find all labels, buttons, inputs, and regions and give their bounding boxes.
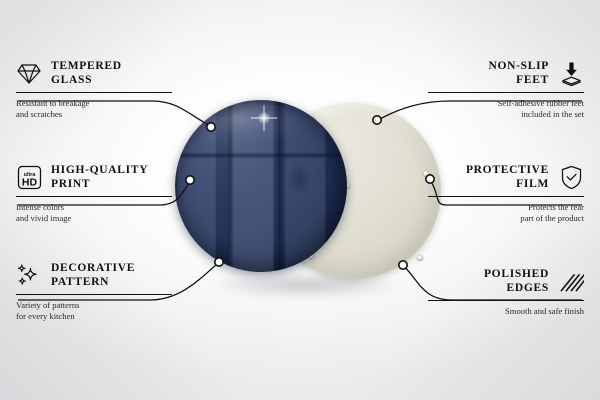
callout-dot-decorative-pattern <box>215 258 223 266</box>
feature-description: Variety of patterns for every kitchen <box>16 300 172 321</box>
desc-line: Self-adhesive rubber feet <box>428 98 584 109</box>
feature-header: TEMPERED GLASS <box>16 60 172 87</box>
title-line: POLISHED <box>484 268 549 280</box>
title-line: EDGES <box>507 282 550 294</box>
desc-line: for every kitchen <box>16 311 172 322</box>
title-line: FILM <box>516 178 549 190</box>
shield-check-icon <box>558 165 584 191</box>
feature-title: NON-SLIP FEET <box>488 60 549 87</box>
feature-polished-edges: POLISHED EDGES Smooth and safe finish <box>428 268 584 317</box>
feature-tempered-glass: TEMPERED GLASS Resistant to breakage and… <box>16 60 172 119</box>
feature-non-slip-feet: NON-SLIP FEET Self-adhesive rubber feet … <box>428 60 584 119</box>
feature-title: PROTECTIVE FILM <box>466 164 549 191</box>
feature-divider <box>16 92 172 93</box>
callout-dot-high-quality-print <box>186 176 194 184</box>
desc-line: Variety of patterns <box>16 300 172 311</box>
title-line: NON-SLIP <box>488 60 549 72</box>
feature-header: NON-SLIP FEET <box>428 60 584 87</box>
ultra-hd-icon: ultra HD <box>16 165 42 191</box>
polished-edges-icon <box>558 269 584 295</box>
desc-line: Resistant to breakage <box>16 98 172 109</box>
desc-line: and vivid image <box>16 213 172 224</box>
svg-text:HD: HD <box>21 177 37 189</box>
feature-high-quality-print: ultra HD HIGH-QUALITY PRINT Intense colo… <box>16 164 172 223</box>
feature-header: DECORATIVE PATTERN <box>16 262 172 289</box>
callout-dot-polished-edges <box>399 261 407 269</box>
feature-divider <box>16 196 172 197</box>
feature-header: POLISHED EDGES <box>428 268 584 295</box>
desc-line: Intense colors <box>16 202 172 213</box>
feature-description: Self-adhesive rubber feet included in th… <box>428 98 584 119</box>
feature-title: POLISHED EDGES <box>484 268 549 295</box>
title-line: PROTECTIVE <box>466 164 549 176</box>
title-line: TEMPERED <box>51 60 122 72</box>
feature-description: Protects the rear part of the product <box>428 202 584 223</box>
feature-description: Resistant to breakage and scratches <box>16 98 172 119</box>
feature-title: DECORATIVE PATTERN <box>51 262 135 289</box>
desc-line: part of the product <box>428 213 584 224</box>
feature-header: ultra HD HIGH-QUALITY PRINT <box>16 164 172 191</box>
desc-line: Protects the rear <box>428 202 584 213</box>
feature-divider <box>428 92 584 93</box>
infographic-canvas: TEMPERED GLASS Resistant to breakage and… <box>0 0 600 400</box>
diamond-icon <box>16 61 42 87</box>
feature-description: Intense colors and vivid image <box>16 202 172 223</box>
feature-title: HIGH-QUALITY PRINT <box>51 164 148 191</box>
feature-divider <box>428 300 584 301</box>
feature-decorative-pattern: DECORATIVE PATTERN Variety of patterns f… <box>16 262 172 321</box>
callout-dot-tempered-glass <box>207 123 215 131</box>
title-line: GLASS <box>51 74 92 86</box>
feature-divider <box>16 294 172 295</box>
desc-line: Smooth and safe finish <box>428 306 584 317</box>
feature-title: TEMPERED GLASS <box>51 60 122 87</box>
desc-line: included in the set <box>428 109 584 120</box>
title-line: HIGH-QUALITY <box>51 164 148 176</box>
feature-divider <box>428 196 584 197</box>
title-line: PRINT <box>51 178 90 190</box>
title-line: DECORATIVE <box>51 262 135 274</box>
feature-header: PROTECTIVE FILM <box>428 164 584 191</box>
title-line: FEET <box>516 74 549 86</box>
feature-description: Smooth and safe finish <box>428 306 584 317</box>
title-line: PATTERN <box>51 276 109 288</box>
callout-dot-non-slip-feet <box>373 116 381 124</box>
non-slip-feet-icon <box>558 61 584 87</box>
desc-line: and scratches <box>16 109 172 120</box>
sparkles-icon <box>16 263 42 289</box>
feature-protective-film: PROTECTIVE FILM Protects the rear part o… <box>428 164 584 223</box>
